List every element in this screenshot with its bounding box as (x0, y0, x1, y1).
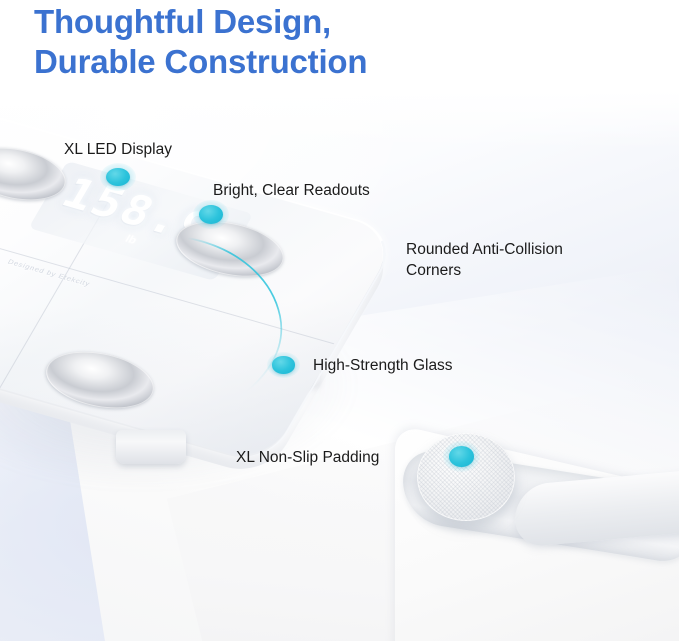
detail-inset-non-slip-foot (395, 425, 679, 641)
page-title-line-1: Thoughtful Design, (34, 2, 367, 42)
page-title: Thoughtful Design, Durable Construction (34, 2, 367, 82)
callout-label-bright-clear-readouts: Bright, Clear Readouts (213, 180, 370, 201)
dot-core (449, 446, 474, 466)
callout-dot-bright-clear-readouts[interactable] (193, 200, 229, 229)
page-title-line-2: Durable Construction (34, 42, 367, 82)
callout-label-high-strength-glass: High-Strength Glass (313, 355, 453, 376)
callout-label-xl-non-slip-padding: XL Non-Slip Padding (236, 447, 379, 468)
callout-dot-xl-led-display[interactable] (100, 163, 136, 191)
callout-dot-high-strength-glass[interactable] (267, 352, 300, 378)
scale-foot-left (116, 430, 186, 464)
infographic-canvas: Thoughtful Design, Durable Construction … (0, 0, 679, 641)
callout-label-rounded-corners: Rounded Anti-Collision Corners (406, 239, 621, 281)
dot-core (272, 356, 294, 373)
callout-label-xl-led-display: XL LED Display (64, 139, 172, 160)
dot-core (199, 205, 223, 224)
callout-dot-xl-non-slip-padding[interactable] (443, 441, 480, 472)
